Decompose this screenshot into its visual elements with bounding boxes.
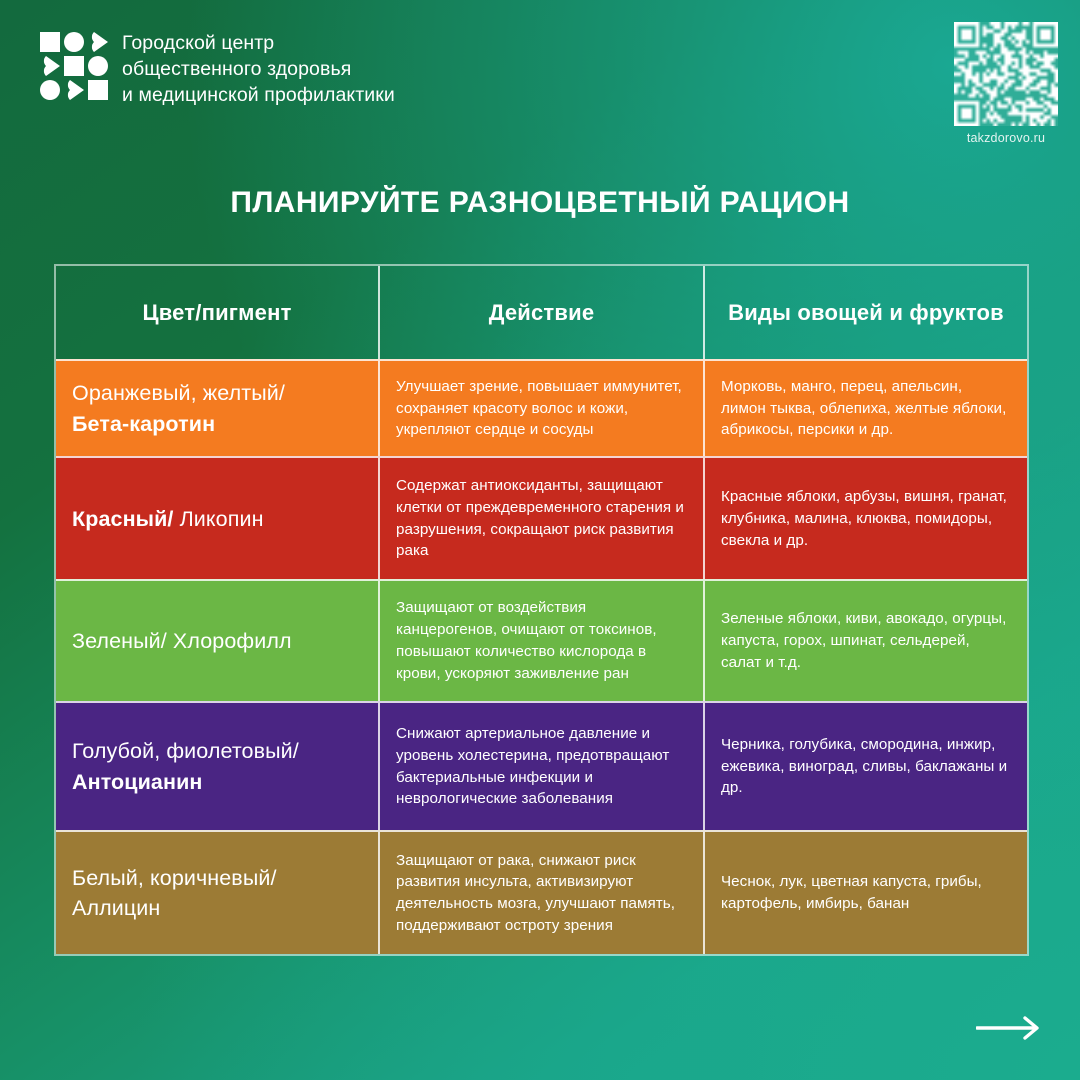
- header-cell-kinds: Виды овощей и фруктов: [703, 266, 1027, 359]
- kinds-text: Черника, голубика, смородина, инжир, еже…: [721, 734, 1011, 799]
- kinds-text: Зеленые яблоки, киви, авокадо, огурцы, к…: [721, 608, 1011, 673]
- action-text: Защищают от воздействия канцерогенов, оч…: [396, 597, 687, 684]
- header-label: Виды овощей и фруктов: [728, 297, 1004, 328]
- table-row: Голубой, фиолетовый/Антоцианин Снижают а…: [56, 701, 1027, 831]
- brand-block: Городской центр общественного здоровья и…: [40, 30, 395, 108]
- qr-url-label: takzdorovo.ru: [950, 131, 1062, 145]
- cell-kinds: Черника, голубика, смородина, инжир, еже…: [703, 703, 1027, 831]
- cell-action: Защищают от воздействия канцерогенов, оч…: [378, 581, 703, 701]
- header-label: Цвет/пигмент: [142, 297, 291, 328]
- color-pigment-label: Зеленый/ Хлорофилл: [72, 626, 362, 657]
- square-shape-icon: [40, 32, 60, 52]
- organization-name: Городской центр общественного здоровья и…: [122, 30, 395, 108]
- cell-kinds: Чеснок, лук, цветная капуста, грибы, кар…: [703, 832, 1027, 954]
- action-text: Защищают от рака, снижают риск развития …: [396, 850, 687, 937]
- cell-color-pigment: Белый, коричневый/ Аллицин: [56, 832, 378, 954]
- square-shape-icon: [88, 80, 108, 100]
- action-text: Улучшает зрение, повышает иммунитет, сох…: [396, 376, 687, 441]
- heart-shape-icon: [88, 32, 108, 52]
- qr-block: takzdorovo.ru: [950, 22, 1062, 145]
- cell-kinds: Морковь, манго, перец, апельсин, лимон т…: [703, 361, 1027, 457]
- color-pigment-label: Красный/ Ликопин: [72, 504, 362, 535]
- action-text: Снижают артериальное давление и уровень …: [396, 723, 687, 810]
- cell-action: Снижают артериальное давление и уровень …: [378, 703, 703, 831]
- kinds-text: Чеснок, лук, цветная капуста, грибы, кар…: [721, 871, 1011, 914]
- cell-action: Содержат антиоксиданты, защищают клетки …: [378, 458, 703, 579]
- header-cell-color-pigment: Цвет/пигмент: [56, 266, 378, 359]
- kinds-text: Красные яблоки, арбузы, вишня, гранат, к…: [721, 486, 1011, 551]
- heart-shape-icon: [64, 80, 84, 100]
- page-title: ПЛАНИРУЙТЕ РАЗНОЦВЕТНЫЙ РАЦИОН: [0, 186, 1080, 220]
- cell-kinds: Красные яблоки, арбузы, вишня, гранат, к…: [703, 458, 1027, 579]
- color-pigment-label: Оранжевый, желтый/Бета-каротин: [72, 378, 362, 439]
- cell-action: Защищают от рака, снижают риск развития …: [378, 832, 703, 954]
- kinds-text: Морковь, манго, перец, апельсин, лимон т…: [721, 376, 1011, 441]
- cell-action: Улучшает зрение, повышает иммунитет, сох…: [378, 361, 703, 457]
- table-row: Белый, коричневый/ Аллицин Защищают от р…: [56, 830, 1027, 954]
- qr-code-icon[interactable]: [954, 22, 1058, 126]
- table-row: Красный/ Ликопин Содержат антиоксиданты,…: [56, 456, 1027, 579]
- arrow-right-icon[interactable]: [976, 1016, 1042, 1040]
- color-pigment-label: Голубой, фиолетовый/Антоцианин: [72, 736, 362, 797]
- header-label: Действие: [489, 297, 595, 328]
- cell-kinds: Зеленые яблоки, киви, авокадо, огурцы, к…: [703, 581, 1027, 701]
- shapes-grid-logo-icon: [40, 32, 108, 100]
- cell-color-pigment: Красный/ Ликопин: [56, 458, 378, 579]
- circle-shape-icon: [64, 32, 84, 52]
- circle-shape-icon: [88, 56, 108, 76]
- color-pigment-label: Белый, коричневый/ Аллицин: [72, 863, 362, 924]
- circle-shape-icon: [40, 80, 60, 100]
- action-text: Содержат антиоксиданты, защищают клетки …: [396, 475, 687, 562]
- square-shape-icon: [64, 56, 84, 76]
- table-row: Зеленый/ Хлорофилл Защищают от воздейств…: [56, 579, 1027, 701]
- color-diet-table: Цвет/пигмент Действие Виды овощей и фрук…: [54, 264, 1029, 956]
- table-header-row: Цвет/пигмент Действие Виды овощей и фрук…: [56, 266, 1027, 359]
- cell-color-pigment: Голубой, фиолетовый/Антоцианин: [56, 703, 378, 831]
- cell-color-pigment: Зеленый/ Хлорофилл: [56, 581, 378, 701]
- infographic-page: Городской центр общественного здоровья и…: [0, 0, 1080, 1080]
- heart-shape-icon: [40, 56, 60, 76]
- header-cell-action: Действие: [378, 266, 703, 359]
- table-row: Оранжевый, желтый/Бета-каротин Улучшает …: [56, 359, 1027, 457]
- cell-color-pigment: Оранжевый, желтый/Бета-каротин: [56, 361, 378, 457]
